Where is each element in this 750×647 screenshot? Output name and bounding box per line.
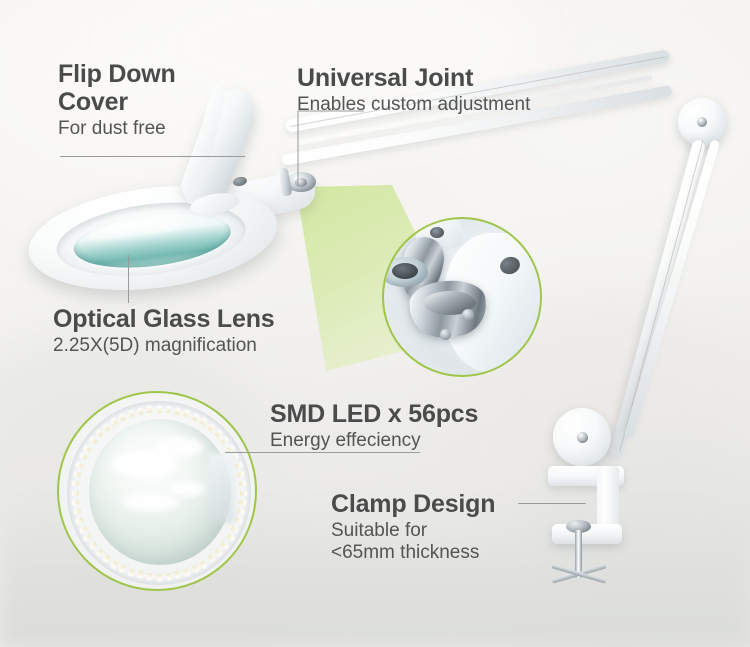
lens-reflection — [123, 493, 179, 511]
detail-screw-lower — [440, 329, 451, 340]
led-chip — [137, 407, 143, 415]
led-chip — [102, 554, 110, 563]
detail-swivel-hole — [392, 263, 418, 279]
leader-clamp-design — [518, 503, 586, 504]
led-chip — [157, 574, 162, 581]
led-chip — [79, 453, 87, 461]
magnifier-lens — [71, 205, 234, 276]
led-chip — [73, 471, 81, 477]
lens-reflection — [169, 481, 205, 497]
led-chip — [207, 554, 215, 563]
led-chip — [220, 541, 229, 549]
led-chip — [73, 508, 81, 514]
callout-flip-down-cover: Flip Down Cover For dust free — [58, 60, 176, 140]
led-chip — [76, 517, 84, 524]
callout-subtitle: For dust free — [58, 118, 176, 140]
led-chip — [237, 471, 245, 477]
led-chip — [72, 481, 80, 487]
lens-glare — [87, 216, 184, 244]
led-ring-detail-inset — [57, 391, 257, 591]
callout-subtitle: Energy effeciency — [270, 430, 478, 452]
product-infographic: Flip Down Cover For dust free Universal … — [0, 0, 750, 647]
callout-smd-led: SMD LED x 56pcs Energy effeciency — [270, 400, 478, 452]
elbow-joint-pin — [697, 117, 707, 127]
led-chip — [72, 500, 80, 506]
led-chip — [84, 534, 93, 542]
led-chip — [84, 444, 93, 452]
callout-title: Clamp Design — [331, 490, 495, 518]
led-chip — [174, 571, 180, 579]
led-chip — [183, 410, 190, 418]
led-chip — [89, 541, 98, 549]
led-chip — [128, 410, 135, 418]
callout-optical-glass-lens: Optical Glass Lens 2.25X(5D) magnificati… — [53, 305, 275, 357]
led-chip — [214, 429, 222, 437]
led-chip — [200, 560, 208, 569]
led-chip — [183, 568, 190, 576]
led-chip — [166, 406, 172, 414]
callout-title-line1: Flip Down — [58, 60, 176, 88]
led-chip — [234, 517, 242, 524]
led-chip — [239, 500, 247, 506]
led-chip — [110, 418, 118, 427]
callout-subtitle-line1: Suitable for — [331, 520, 495, 542]
led-chip — [79, 526, 87, 534]
led-chip — [147, 406, 153, 414]
callout-subtitle: Enables custom adjustment — [297, 94, 530, 116]
led-chip — [192, 413, 200, 421]
leader-flip-down-cover — [60, 156, 245, 157]
leader-universal-joint — [296, 110, 366, 188]
led-chip — [119, 564, 127, 572]
universal-joint-detail-inset — [382, 217, 542, 377]
led-chip — [102, 423, 110, 432]
led-chip — [240, 491, 247, 496]
callout-title: SMD LED x 56pcs — [270, 400, 478, 428]
callout-universal-joint: Universal Joint Enables custom adjustmen… — [297, 64, 530, 116]
led-chip — [230, 526, 238, 534]
led-chip — [220, 436, 229, 444]
led-chip — [76, 462, 84, 469]
led-chip — [174, 407, 180, 415]
led-chip — [72, 491, 79, 496]
led-chip — [166, 573, 172, 581]
led-chip — [110, 560, 118, 569]
led-chip — [237, 508, 245, 514]
led-chip — [239, 481, 247, 487]
detail-mount-hole — [430, 227, 444, 238]
led-chip — [128, 568, 135, 576]
base-joint-pin — [577, 432, 588, 443]
leader-optical-glass-lens — [128, 255, 129, 303]
callout-clamp-design: Clamp Design Suitable for <65mm thicknes… — [331, 490, 495, 565]
led-chip — [207, 423, 215, 432]
led-ring-connector — [209, 453, 235, 523]
led-chip — [95, 429, 103, 437]
detail-screw-upper — [462, 309, 474, 321]
led-chip — [147, 573, 153, 581]
lens-reflection — [155, 437, 203, 457]
callout-title: Universal Joint — [297, 64, 530, 92]
led-chip — [234, 462, 242, 469]
callout-title-line2: Cover — [58, 88, 176, 116]
led-chip — [157, 406, 162, 413]
led-chip — [95, 548, 103, 556]
led-chip — [89, 436, 98, 444]
led-chip — [214, 548, 222, 556]
callout-subtitle-line2: <65mm thickness — [331, 542, 495, 564]
callout-title: Optical Glass Lens — [53, 305, 275, 333]
callout-subtitle: 2.25X(5D) magnification — [53, 335, 275, 357]
led-chip — [200, 418, 208, 427]
led-chip — [226, 534, 235, 542]
led-chip — [137, 571, 143, 579]
led-chip — [119, 413, 127, 421]
led-chip — [192, 564, 200, 572]
